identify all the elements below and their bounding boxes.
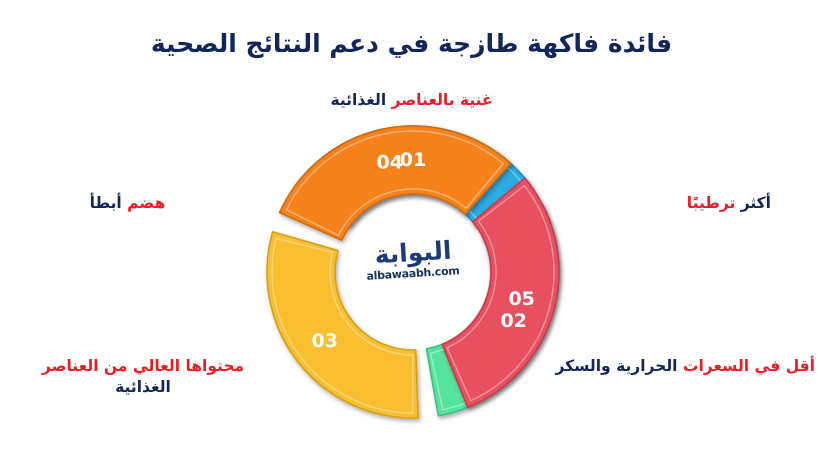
segment-number-04: 04 (376, 151, 402, 173)
segment-number-05: 05 (508, 288, 534, 310)
callout-label-bottom-right: أقل في السعرات الحرارية والسكر (535, 356, 815, 377)
callout-top-highlight: غنية بالعناصر (392, 91, 493, 109)
donut-svg: 0102030405 (263, 122, 563, 422)
segment-number-03: 03 (312, 330, 338, 352)
donut-wheel: 0102030405 (263, 122, 563, 422)
callout-label-bottom-left: محتواها العالي من العناصر الغذائية (12, 356, 274, 398)
donut-segment-03[interactable] (267, 232, 418, 418)
callout-left-highlight: هضم (127, 194, 165, 212)
callout-left-rest: أبطأ (90, 194, 122, 212)
callout-label-left: هضم أبطأ (40, 193, 215, 214)
segment-number-02: 02 (500, 310, 526, 332)
callout-label-right: أكثر ترطيبًا (541, 193, 771, 214)
page-title: فائدة فاكهة طازجة في دعم النتائج الصحية (0, 28, 823, 59)
callout-bottom-right-rest: الحرارية والسكر (555, 357, 677, 375)
callout-label-top: غنية بالعناصر الغذائية (0, 90, 823, 111)
callout-bottom-left-rest: الغذائية (115, 378, 171, 396)
callout-bottom-right-highlight: أقل في السعرات (683, 357, 815, 375)
segment-number-01: 01 (400, 149, 426, 171)
callout-right-rest: أكثر (741, 194, 771, 212)
callout-bottom-left-highlight: محتواها العالي من العناصر (42, 357, 244, 375)
callout-right-highlight: ترطيبًا (687, 194, 736, 212)
infographic-canvas: فائدة فاكهة طازجة في دعم النتائج الصحية … (0, 0, 823, 457)
callout-top-rest: الغذائية (330, 91, 386, 109)
